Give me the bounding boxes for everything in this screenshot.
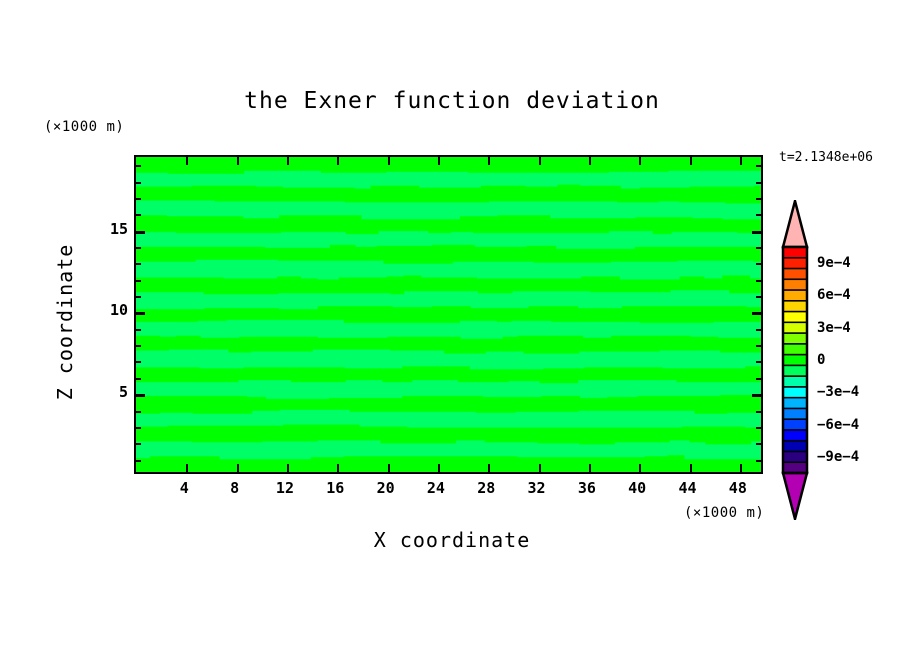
page-title: the Exner function deviation: [0, 88, 904, 114]
colorbar-segment: [783, 355, 807, 366]
x-axis-tick: [186, 157, 188, 165]
colorbar-segment: [783, 322, 807, 333]
x-axis-tick: [539, 464, 541, 472]
colorbar-segment: [783, 247, 807, 258]
colorbar-over-arrow: [783, 201, 807, 247]
colorbar-segment: [783, 387, 807, 398]
y-tick-label: 10: [104, 301, 128, 319]
x-axis-tick: [287, 157, 289, 165]
colorbar-tick-label: −9e−4: [817, 449, 859, 465]
colorbar-tick-label: 6e−4: [817, 287, 851, 303]
x-tick-label: 20: [377, 479, 395, 497]
y-axis-tick-minor: [136, 361, 141, 363]
x-axis-tick: [337, 157, 339, 165]
x-axis-tick: [388, 464, 390, 472]
x-axis-tick: [388, 157, 390, 165]
colorbar-segment: [783, 451, 807, 462]
colorbar-tick-label: 9e−4: [817, 255, 851, 271]
y-axis-tick-minor: [756, 345, 761, 347]
x-axis-tick: [740, 157, 742, 165]
x-tick-label: 16: [326, 479, 344, 497]
y-axis-tick-minor: [136, 263, 141, 265]
colorbar-segment: [783, 312, 807, 323]
colorbar-tick-label: −3e−4: [817, 384, 859, 400]
y-axis-tick-minor: [136, 214, 141, 216]
y-axis-tick-minor: [756, 214, 761, 216]
x-tick-label: 8: [230, 479, 239, 497]
x-axis-tick: [488, 464, 490, 472]
x-axis-tick: [438, 464, 440, 472]
colorbar-tick-label: −6e−4: [817, 417, 859, 433]
y-axis-tick-minor: [756, 361, 761, 363]
colorbar-segment: [783, 365, 807, 376]
y-axis-tick-minor: [136, 247, 141, 249]
x-tick-label: 24: [427, 479, 445, 497]
y-axis-tick-minor: [756, 329, 761, 331]
y-axis-tick-minor: [756, 427, 761, 429]
x-axis-unit-label: (×1000 m): [684, 505, 764, 521]
y-axis-tick-minor: [136, 329, 141, 331]
y-axis-tick-major: [752, 394, 761, 397]
y-axis-tick-major: [136, 312, 145, 315]
colorbar-under-arrow: [783, 473, 807, 519]
colorbar-segment: [783, 279, 807, 290]
x-axis-tick: [539, 157, 541, 165]
x-tick-label: 40: [628, 479, 646, 497]
y-axis-title: Z coordinate: [53, 212, 77, 432]
y-axis-tick-major: [136, 231, 145, 234]
colorbar: [779, 200, 811, 520]
y-axis-tick-minor: [136, 460, 141, 462]
colorbar-segment: [783, 408, 807, 419]
colorbar-segment: [783, 430, 807, 441]
y-axis-tick-minor: [136, 411, 141, 413]
x-tick-label: 36: [578, 479, 596, 497]
x-tick-label: 4: [180, 479, 189, 497]
y-axis-tick-minor: [136, 378, 141, 380]
x-axis-tick: [438, 157, 440, 165]
y-axis-tick-minor: [756, 198, 761, 200]
colorbar-segment: [783, 258, 807, 269]
colorbar-tick-label: 3e−4: [817, 320, 851, 336]
y-axis-tick-minor: [756, 263, 761, 265]
heatmap-field: [136, 157, 761, 472]
x-axis-tick: [287, 464, 289, 472]
colorbar-tick-label: 0: [817, 352, 825, 368]
y-axis-tick-minor: [756, 378, 761, 380]
y-axis-tick-minor: [756, 182, 761, 184]
x-axis-tick: [488, 157, 490, 165]
colorbar-segment: [783, 269, 807, 280]
y-axis-tick-minor: [136, 443, 141, 445]
colorbar-segment: [783, 333, 807, 344]
x-tick-label: 28: [477, 479, 495, 497]
y-axis-tick-minor: [756, 296, 761, 298]
x-axis-title: X coordinate: [0, 528, 904, 552]
y-axis-unit-label: (×1000 m): [44, 119, 124, 135]
colorbar-segment: [783, 344, 807, 355]
y-axis-tick-minor: [756, 443, 761, 445]
plot-frame: [134, 155, 763, 474]
colorbar-segment: [783, 441, 807, 452]
y-axis-tick-minor: [136, 427, 141, 429]
colorbar-segment: [783, 419, 807, 430]
x-tick-label: 44: [678, 479, 696, 497]
y-axis-tick-minor: [136, 296, 141, 298]
x-axis-tick: [639, 464, 641, 472]
x-tick-label: 48: [729, 479, 747, 497]
y-axis-tick-minor: [756, 460, 761, 462]
y-axis-tick-minor: [756, 280, 761, 282]
y-axis-tick-minor: [136, 345, 141, 347]
x-axis-tick: [186, 464, 188, 472]
x-tick-label: 32: [528, 479, 546, 497]
colorbar-segment: [783, 290, 807, 301]
y-axis-tick-minor: [136, 198, 141, 200]
y-axis-tick-minor: [136, 182, 141, 184]
y-axis-tick-minor: [756, 411, 761, 413]
y-axis-tick-minor: [756, 165, 761, 167]
y-axis-tick-major: [136, 394, 145, 397]
y-axis-tick-minor: [136, 165, 141, 167]
x-tick-label: 12: [276, 479, 294, 497]
x-axis-tick: [589, 157, 591, 165]
x-axis-tick: [639, 157, 641, 165]
x-axis-tick: [237, 157, 239, 165]
x-axis-tick: [690, 464, 692, 472]
y-tick-label: 15: [104, 220, 128, 238]
time-stamp-annotation: t=2.1348e+06: [779, 150, 873, 165]
y-tick-label: 5: [104, 383, 128, 401]
y-axis-tick-minor: [756, 247, 761, 249]
x-axis-tick: [589, 464, 591, 472]
colorbar-gradient: [779, 200, 811, 520]
y-axis-tick-major: [752, 231, 761, 234]
x-axis-tick: [237, 464, 239, 472]
colorbar-segment: [783, 376, 807, 387]
x-axis-tick: [337, 464, 339, 472]
x-axis-tick: [690, 157, 692, 165]
colorbar-segment: [783, 398, 807, 409]
y-axis-tick-minor: [136, 280, 141, 282]
colorbar-segment: [783, 301, 807, 312]
y-axis-tick-major: [752, 312, 761, 315]
x-axis-tick: [740, 464, 742, 472]
